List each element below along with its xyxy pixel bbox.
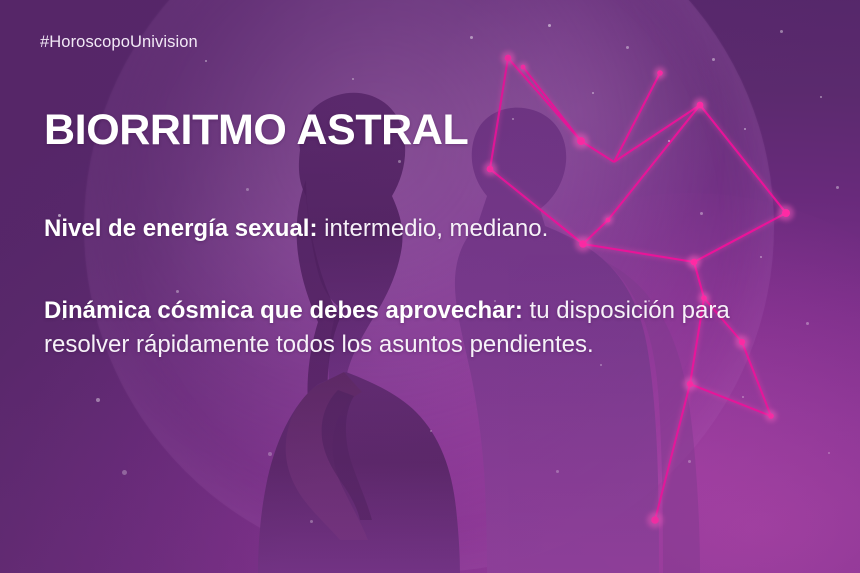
- paragraph-energy-level-body: intermedio, mediano.: [317, 215, 548, 242]
- paragraph-energy-level-lead: Nivel de energía sexual:: [44, 215, 317, 242]
- paragraph-energy-level: Nivel de energía sexual: intermedio, med…: [44, 212, 784, 246]
- text-content: #HoroscopoUnivision BIORRITMO ASTRAL Niv…: [40, 0, 820, 573]
- paragraph-cosmic-dynamic: Dinámica cósmica que debes aprovechar: t…: [44, 294, 770, 362]
- hashtag-label: #HoroscopoUnivision: [40, 33, 198, 52]
- page-title: BIORRITMO ASTRAL: [44, 108, 468, 153]
- paragraph-cosmic-dynamic-lead: Dinámica cósmica que debes aprovechar:: [44, 297, 523, 324]
- horoscope-card: #HoroscopoUnivision BIORRITMO ASTRAL Niv…: [0, 0, 860, 573]
